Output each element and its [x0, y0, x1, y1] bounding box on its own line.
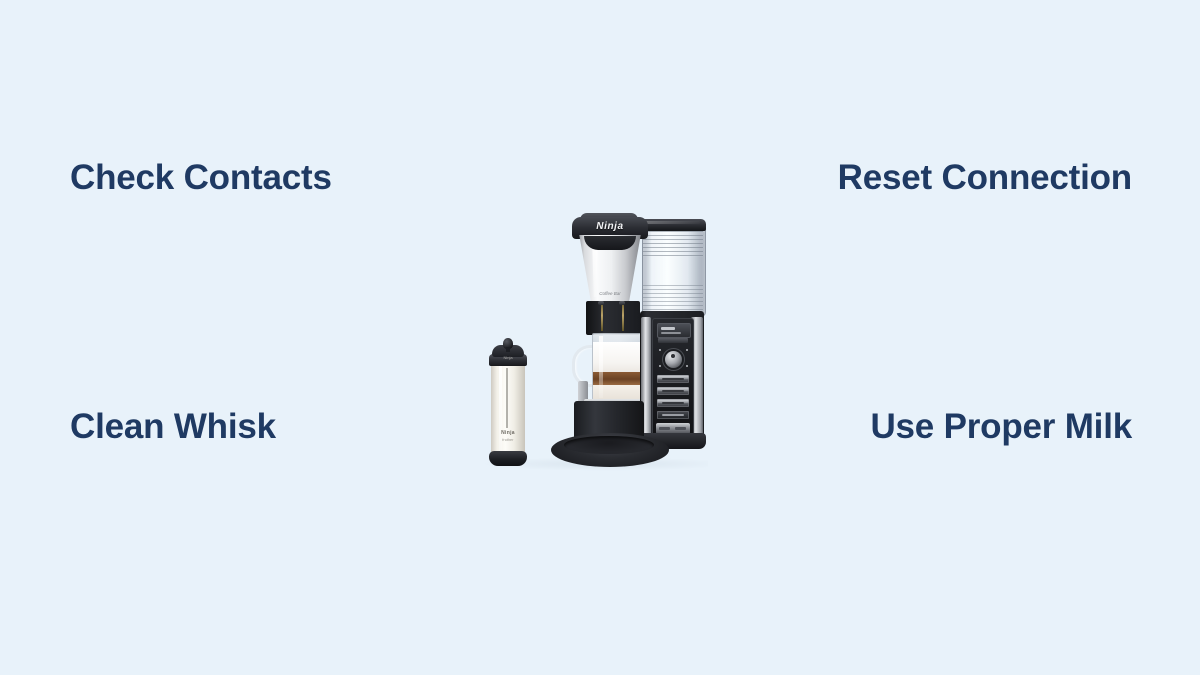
panel-indicator-dot-2 — [686, 349, 688, 351]
frother-base — [489, 451, 527, 466]
caption-reset-connection: Reset Connection — [838, 153, 1132, 203]
product-image-ninja-coffee-bar: Ninja Ninja frother Ninja Coffee Bar — [478, 205, 708, 475]
drip-tray-well — [564, 436, 654, 454]
latte-mug — [592, 333, 642, 403]
brew-basket — [586, 301, 640, 335]
frother-brand-label: Ninja — [488, 430, 528, 436]
frother-sub-label: frother — [488, 438, 528, 442]
panel-button-2 — [657, 387, 689, 395]
brew-head-scoop — [584, 236, 636, 250]
panel-sub-bar — [658, 338, 688, 343]
dispense-spout-right — [622, 305, 624, 331]
panel-button-1 — [657, 375, 689, 383]
dispense-spout-left — [601, 305, 603, 331]
control-panel — [652, 318, 694, 438]
frother-lid-label: Ninja — [488, 355, 528, 360]
panel-button-3 — [657, 399, 689, 407]
funnel-label: Coffee Bar — [578, 291, 642, 296]
reservoir-ribs-bottom — [643, 285, 703, 313]
panel-indicator-dot-3 — [659, 365, 661, 367]
frother-plunger-rod — [506, 368, 508, 428]
reservoir-lid — [640, 219, 706, 231]
reservoir-ribs-top — [643, 231, 703, 257]
caption-use-proper-milk: Use Proper Milk — [832, 402, 1132, 452]
panel-button-4 — [657, 411, 689, 419]
panel-indicator-dot-4 — [686, 365, 688, 367]
mug-highlight — [599, 336, 603, 398]
caption-clean-whisk: Clean Whisk — [70, 402, 276, 452]
frother-knob — [503, 338, 513, 349]
panel-indicator-dot-1 — [659, 349, 661, 351]
screenshot-canvas: Check Contacts Reset Connection Clean Wh… — [0, 0, 1200, 675]
caption-check-contacts: Check Contacts — [70, 153, 332, 203]
ninja-logo: Ninja — [572, 221, 648, 232]
milk-frother: Ninja Ninja frother — [488, 338, 528, 468]
brew-size-dial — [665, 351, 682, 368]
coffee-brewer: Ninja Coffee Bar — [548, 205, 708, 471]
panel-display — [657, 323, 691, 338]
